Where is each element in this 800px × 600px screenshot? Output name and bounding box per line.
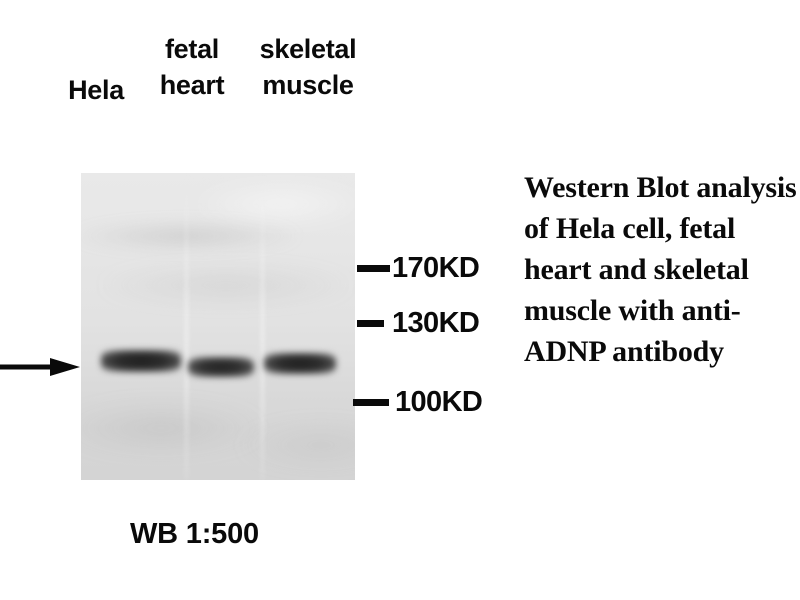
mw-label-130kd: 130KD (392, 309, 479, 338)
lane-header-fetal-heart: fetal heart (140, 31, 244, 103)
mw-tick-icon (357, 320, 384, 327)
mw-tick-icon (353, 399, 389, 406)
lane-seam (261, 173, 264, 480)
lane-header-skeletal-muscle: skeletal muscle (238, 31, 378, 103)
band-pointer-arrow-icon (0, 358, 82, 376)
membrane-smudge-lower-right (241, 423, 355, 467)
membrane-smudge-lower-left (81, 403, 261, 453)
dilution-note: WB 1:500 (130, 518, 259, 551)
band-skeletal-muscle (264, 353, 336, 374)
figure-caption: Western Blot analysis of Hela cell, feta… (524, 167, 800, 372)
membrane-highlight (191, 181, 355, 227)
blot-membrane (81, 173, 355, 480)
western-blot-figure: Hela fetal heart skeletal muscle 170KD 1… (0, 0, 800, 600)
lane-header-hela: Hela (44, 72, 148, 108)
mw-marker-100kd: 100KD (353, 385, 482, 419)
lane-seam (185, 173, 188, 480)
band-hela (101, 350, 181, 372)
membrane-smudge-upper (81, 221, 301, 251)
mw-marker-130kd: 130KD (357, 306, 479, 340)
membrane-smudge-mid (101, 265, 351, 305)
mw-label-170kd: 170KD (392, 254, 479, 283)
mw-marker-170kd: 170KD (357, 251, 479, 285)
mw-tick-icon (357, 265, 390, 272)
band-fetal-heart (188, 357, 254, 377)
mw-label-100kd: 100KD (395, 388, 482, 417)
